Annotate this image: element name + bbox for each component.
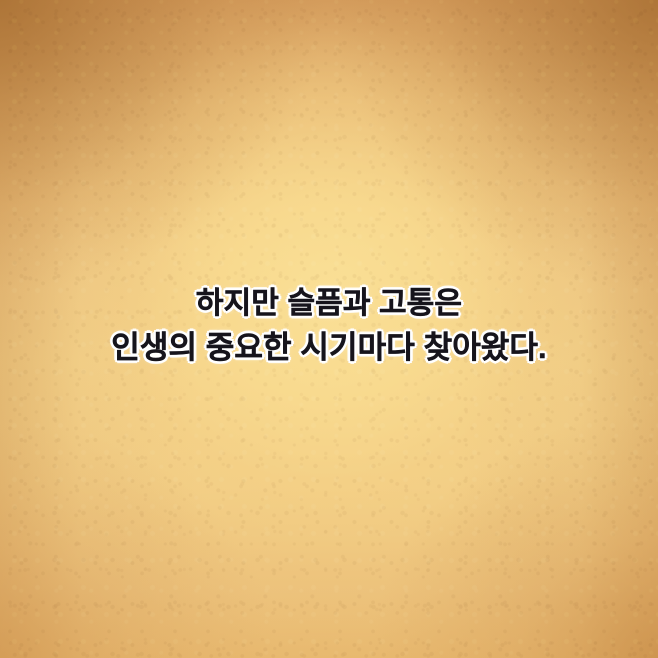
quote-card: 하지만 슬픔과 고통은 인생의 중요한 시기마다 찾아왔다. xyxy=(0,0,658,658)
quote-text-block: 하지만 슬픔과 고통은 인생의 중요한 시기마다 찾아왔다. xyxy=(0,282,658,370)
quote-line-2: 인생의 중요한 시기마다 찾아왔다. xyxy=(0,326,658,370)
quote-line-1: 하지만 슬픔과 고통은 xyxy=(0,282,658,326)
